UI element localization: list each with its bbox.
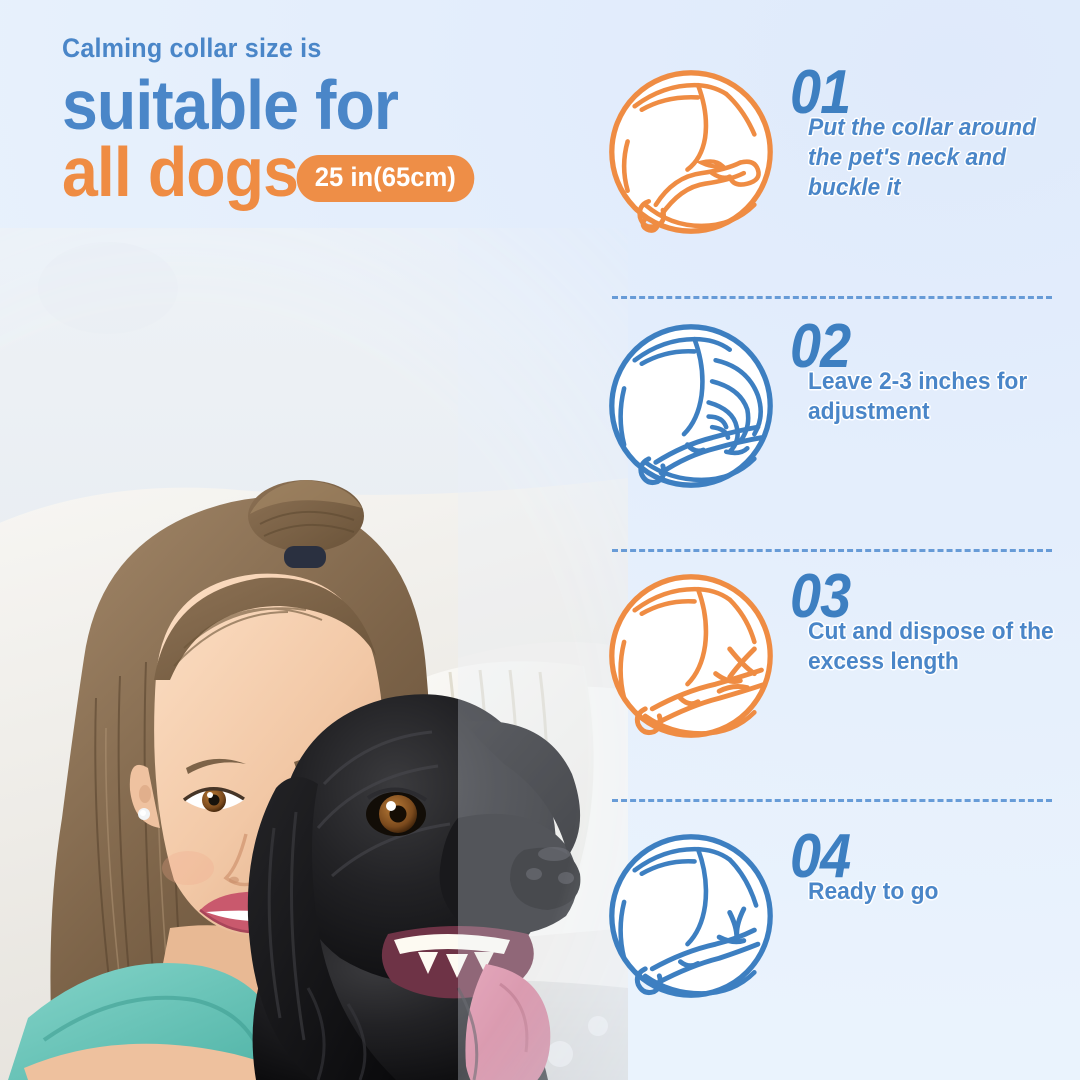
infographic-canvas: Calming collar size is suitable for all …	[0, 0, 1080, 1080]
step-description-04: Ready to go	[808, 877, 1066, 907]
collar-buckle-icon	[596, 64, 786, 240]
headline-line-2: all dogs	[62, 139, 298, 206]
step-item-04: 04 Ready to go	[596, 828, 1080, 1004]
size-badge: 25 in(65cm)	[297, 155, 474, 202]
step-description-03: Cut and dispose of the excess length	[808, 617, 1066, 677]
collar-hand-adjust-icon	[596, 318, 786, 494]
hero-photo	[0, 228, 628, 1080]
step-divider-1	[612, 296, 1052, 299]
steps-list: 01 Put the collar around the pet's neck …	[596, 0, 1080, 1080]
step-description-01: Put the collar around the pet's neck and…	[808, 113, 1066, 204]
step-description-02: Leave 2-3 inches for adjustment	[808, 367, 1066, 427]
step-item-01: 01 Put the collar around the pet's neck …	[596, 64, 1080, 240]
step-item-02: 02 Leave 2-3 inches for adjustment	[596, 318, 1080, 494]
step-number-02: 02	[790, 322, 1051, 373]
headline-block: Calming collar size is suitable for all …	[62, 34, 582, 206]
step-divider-3	[612, 799, 1052, 802]
step-number-01: 01	[790, 68, 1051, 119]
collar-cut-icon	[596, 568, 786, 744]
collar-ready-icon	[596, 828, 786, 1004]
headline-kicker: Calming collar size is	[62, 34, 546, 64]
step-number-04: 04	[790, 832, 1051, 883]
step-divider-2	[612, 549, 1052, 552]
headline-line-1: suitable for	[62, 72, 540, 139]
step-item-03: 03 Cut and dispose of the excess length	[596, 568, 1080, 744]
step-number-03: 03	[790, 572, 1051, 623]
